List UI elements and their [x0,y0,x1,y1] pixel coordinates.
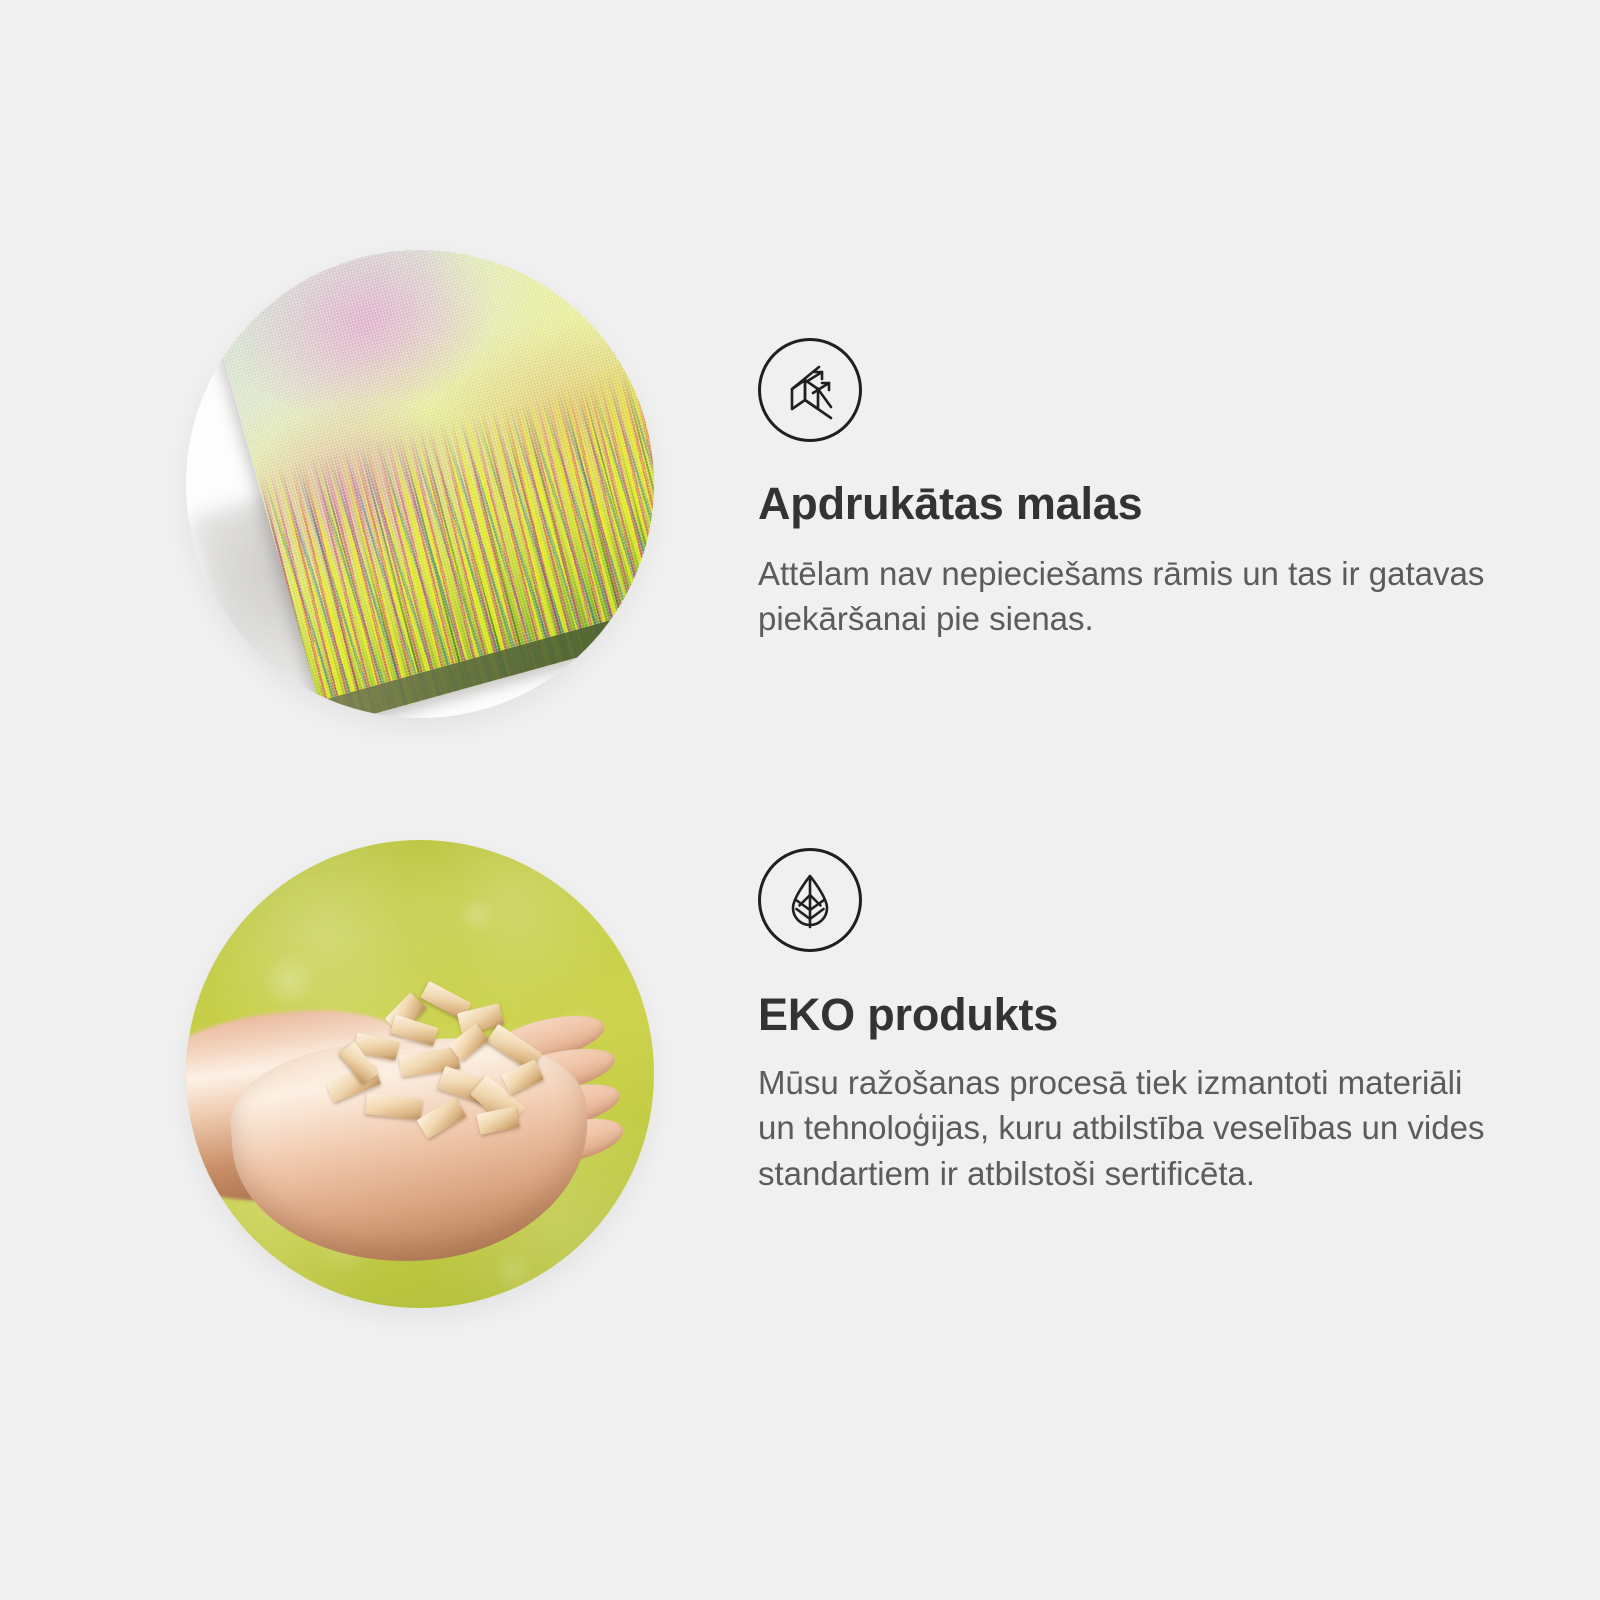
photo-soft-light [186,840,654,1308]
eco-product-media [186,840,654,1308]
printed-edges-text-column: Apdrukātas malas Attēlam nav nepieciešam… [758,250,1488,642]
feature-block-printed-edges: Apdrukātas malas Attēlam nav nepieciešam… [186,250,1488,718]
wood-chips-in-hand-photo [186,840,654,1308]
printed-edges-media [186,250,654,718]
leaf-icon [758,848,862,952]
feature-description-printed-edges: Attēlam nav nepieciešams rāmis un tas ir… [758,551,1488,642]
printed-edges-icon-glyph [779,359,841,421]
feature-title-eco-product: EKO produkts [758,990,1488,1040]
canvas-corner-photo [186,250,654,718]
feature-title-printed-edges: Apdrukātas malas [758,479,1488,529]
printed-edges-icon [758,338,862,442]
product-features-page: Apdrukātas malas Attēlam nav nepieciešam… [0,0,1600,1600]
feature-block-eco-product: EKO produkts Mūsu ražošanas procesā tiek… [186,840,1488,1308]
leaf-icon-glyph [779,869,841,931]
eco-product-text-column: EKO produkts Mūsu ražošanas procesā tiek… [758,840,1488,1196]
feature-description-eco-product: Mūsu ražošanas procesā tiek izmantoti ma… [758,1060,1488,1197]
